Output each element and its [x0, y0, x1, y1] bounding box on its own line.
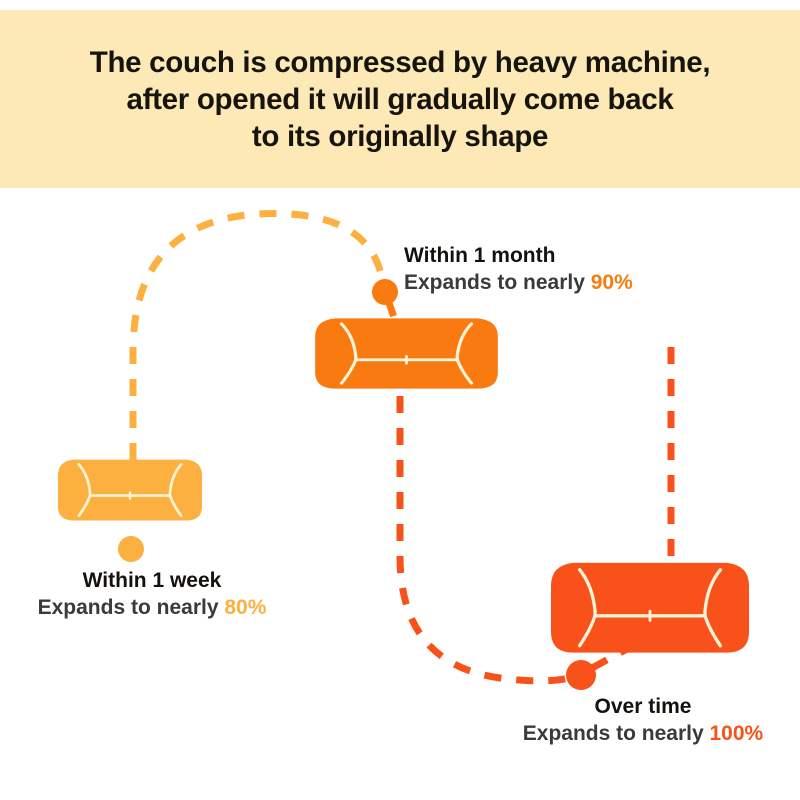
callout-week-subtitle: Expands to nearly 80%: [12, 594, 292, 622]
callout-month: Within 1 month Expands to nearly 90%: [404, 243, 633, 297]
stage-dot-week: [118, 536, 144, 562]
callout-week-title: Within 1 week: [12, 568, 292, 594]
stage-dot-month: [372, 279, 398, 305]
callout-week-percent: 80%: [224, 596, 266, 619]
callout-month-title: Within 1 month: [404, 243, 633, 269]
callout-week: Within 1 week Expands to nearly 80%: [12, 568, 292, 622]
callout-overtime: Over time Expands to nearly 100%: [498, 694, 788, 748]
callout-week-sub-prefix: Expands to nearly: [38, 596, 225, 619]
callout-month-sub-prefix: Expands to nearly: [404, 271, 591, 294]
callout-overtime-sub-prefix: Expands to nearly: [523, 722, 710, 745]
callout-month-percent: 90%: [591, 271, 633, 294]
stage-dot-overtime: [566, 660, 596, 690]
couch-large: [551, 563, 749, 653]
couch-small: [58, 460, 202, 521]
callout-overtime-subtitle: Expands to nearly 100%: [498, 720, 788, 748]
couch-medium: [315, 318, 498, 388]
infographic-canvas: The couch is compressed by heavy machine…: [0, 0, 800, 800]
callout-overtime-percent: 100%: [710, 722, 764, 745]
callout-overtime-title: Over time: [498, 694, 788, 720]
expansion-diagram: [0, 0, 800, 800]
callout-month-subtitle: Expands to nearly 90%: [404, 269, 633, 297]
